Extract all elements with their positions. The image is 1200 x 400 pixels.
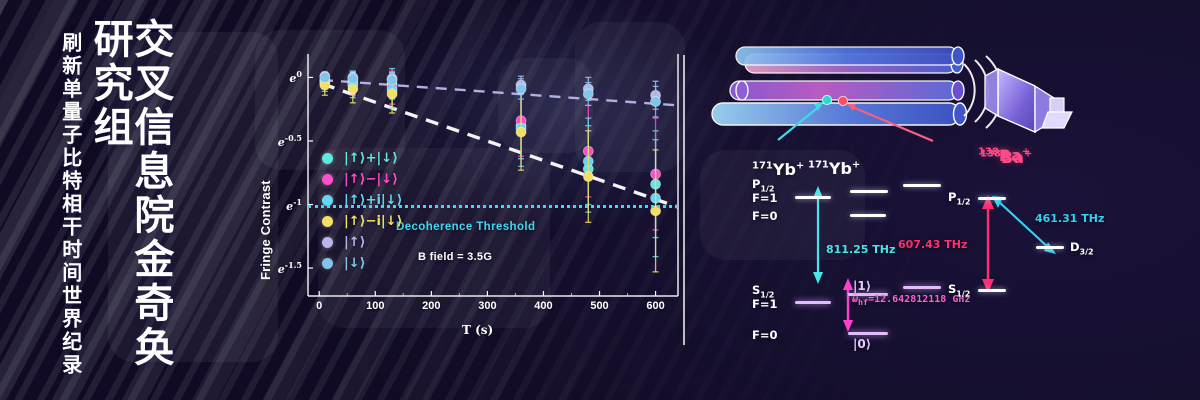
data-point: [516, 127, 526, 137]
ion-ba: [838, 96, 847, 105]
yb-species-title: 171Yb+: [808, 159, 860, 178]
yb-f1-upper-label: F=1: [752, 191, 778, 205]
headline-title: 交叉信息院金奇奂研究组: [89, 18, 171, 400]
chart-legend: |↑⟩+|↓⟩|↑⟩−|↓⟩|↑⟩+i|↓⟩|↑⟩−i|↓⟩|↑⟩|↓⟩: [322, 148, 403, 274]
ba-p-sub: 1/2: [956, 197, 970, 206]
y-tick-label: e-0.5: [268, 133, 302, 149]
x-axis-title: T (s): [462, 323, 493, 337]
yb-title-mass: 171: [808, 160, 829, 171]
ion-yb: [822, 95, 831, 104]
legend-item-1[interactable]: |↑⟩−|↓⟩: [322, 169, 403, 190]
yb-level-p-f1: [795, 196, 831, 199]
legend-marker-icon: [322, 237, 333, 248]
ion-trap-illustration: [690, 40, 1200, 180]
decoherence-threshold-label: Decoherence Threshold: [396, 221, 535, 233]
ba-title-mass: 138: [980, 149, 1001, 160]
x-tick-label: 500: [590, 300, 608, 312]
legend-label: |↑⟩: [344, 235, 366, 250]
physics-panel: 171Yb+ 138Ba+ 171Yb+ P1/2 F=1: [690, 0, 1200, 400]
data-point: [320, 72, 330, 82]
legend-marker-icon: [322, 216, 333, 227]
x-tick-label: 400: [534, 300, 552, 312]
legend-label: |↓⟩: [344, 256, 366, 271]
yb-level-p-f1-right2: [903, 184, 941, 187]
data-point: [583, 172, 593, 182]
ba-title-symbol: Ba: [1001, 148, 1024, 167]
ba-title-charge: +: [1024, 149, 1032, 160]
legend-item-2[interactable]: |↑⟩+i|↓⟩: [322, 190, 403, 211]
headline-subtitle: 刷新单量子比特相干时间世界纪录: [60, 32, 81, 377]
trap-rod-upper-back: [736, 47, 964, 65]
yb-level-p-f1-right: [850, 190, 888, 193]
ba-level-d: [1036, 246, 1064, 249]
y-tick-label: e-1: [268, 197, 302, 213]
data-point: [583, 89, 593, 99]
ba-d-sub: 3/2: [1080, 247, 1094, 256]
ba-level-s: [978, 289, 1006, 292]
x-tick-label: 600: [646, 300, 664, 312]
legend-item-3[interactable]: |↑⟩−i|↓⟩: [322, 211, 403, 232]
yb-ket-zero: |0⟩: [853, 337, 871, 351]
data-point: [516, 84, 526, 94]
yb-level-s-f0-ket0: [848, 332, 888, 335]
yb-f0-lower-label: F=0: [752, 328, 778, 342]
x-tick-label: 200: [422, 300, 440, 312]
ba-d-symbol: D: [1070, 240, 1080, 254]
yb-title-symbol: Yb: [829, 159, 852, 178]
ba-level-p: [978, 197, 1006, 200]
series-|↓⟩: [320, 72, 661, 116]
data-point: [348, 84, 358, 94]
yb-f0-upper-label: F=0: [752, 209, 778, 223]
trap-rod-middle: [730, 81, 964, 100]
hyperfine-sub: hf: [858, 297, 868, 307]
legend-label: |↑⟩−|↓⟩: [344, 172, 398, 187]
series-|↑⟩: [320, 71, 661, 109]
legend-marker-icon: [322, 258, 333, 269]
data-point: [651, 97, 661, 107]
x-tick-label: 300: [478, 300, 496, 312]
headline-block: 刷新单量子比特相干时间世界纪录 交叉信息院金奇奂研究组: [60, 0, 170, 400]
x-tick-label: 0: [316, 300, 322, 312]
trap-rod-bottom: [712, 103, 967, 125]
decoherence-threshold-line: [308, 205, 678, 208]
detector-cone: [985, 69, 1072, 132]
fringe-contrast-chart: Fringe Contrast T (s) Decoherence Thresh…: [250, 40, 690, 345]
legend-label: |↑⟩+|↓⟩: [344, 151, 398, 166]
yb-f1-lower-label: F=1: [752, 297, 778, 311]
legend-item-0[interactable]: |↑⟩+|↓⟩: [322, 148, 403, 169]
yb-arrow-811: [813, 186, 823, 284]
yb-ket-one: |1⟩: [853, 279, 871, 293]
data-point: [387, 75, 397, 85]
y-tick-label: e0: [268, 70, 302, 86]
ba-d-level-label: D3/2: [1070, 240, 1094, 256]
ba-species-title: 138Ba+: [980, 148, 1032, 167]
yb-level-p-f0: [850, 214, 886, 217]
yb-title-charge: +: [852, 160, 860, 171]
yb-level-s-f1: [795, 301, 831, 304]
y-tick-label: e-1.5: [268, 260, 302, 276]
data-point: [348, 74, 358, 84]
data-point: [387, 89, 397, 99]
x-tick-label: 100: [366, 300, 384, 312]
ba-freq-sp: 607.43 THz: [898, 238, 967, 251]
legend-item-4[interactable]: |↑⟩: [322, 232, 403, 253]
ba-s-level-label: S1/2: [948, 282, 970, 298]
ba-arrow-607: [982, 195, 994, 293]
legend-label: |↑⟩−i|↓⟩: [344, 214, 403, 229]
ba-s-sub: 1/2: [956, 289, 970, 298]
b-field-annotation: B field = 3.5G: [418, 251, 492, 263]
legend-marker-icon: [322, 174, 333, 185]
yb-transition-frequency: 811.25 THz: [826, 243, 895, 256]
ba-freq-pd: 461.31 THz: [1035, 212, 1104, 225]
yb-level-s-f1-right: [903, 286, 941, 289]
banner-root: 刷新单量子比特相干时间世界纪录 交叉信息院金奇奂研究组 Fringe Contr…: [0, 0, 1200, 400]
ba-p-level-label: P1/2: [948, 190, 971, 206]
legend-marker-icon: [322, 153, 333, 164]
legend-item-5[interactable]: |↓⟩: [322, 253, 403, 274]
